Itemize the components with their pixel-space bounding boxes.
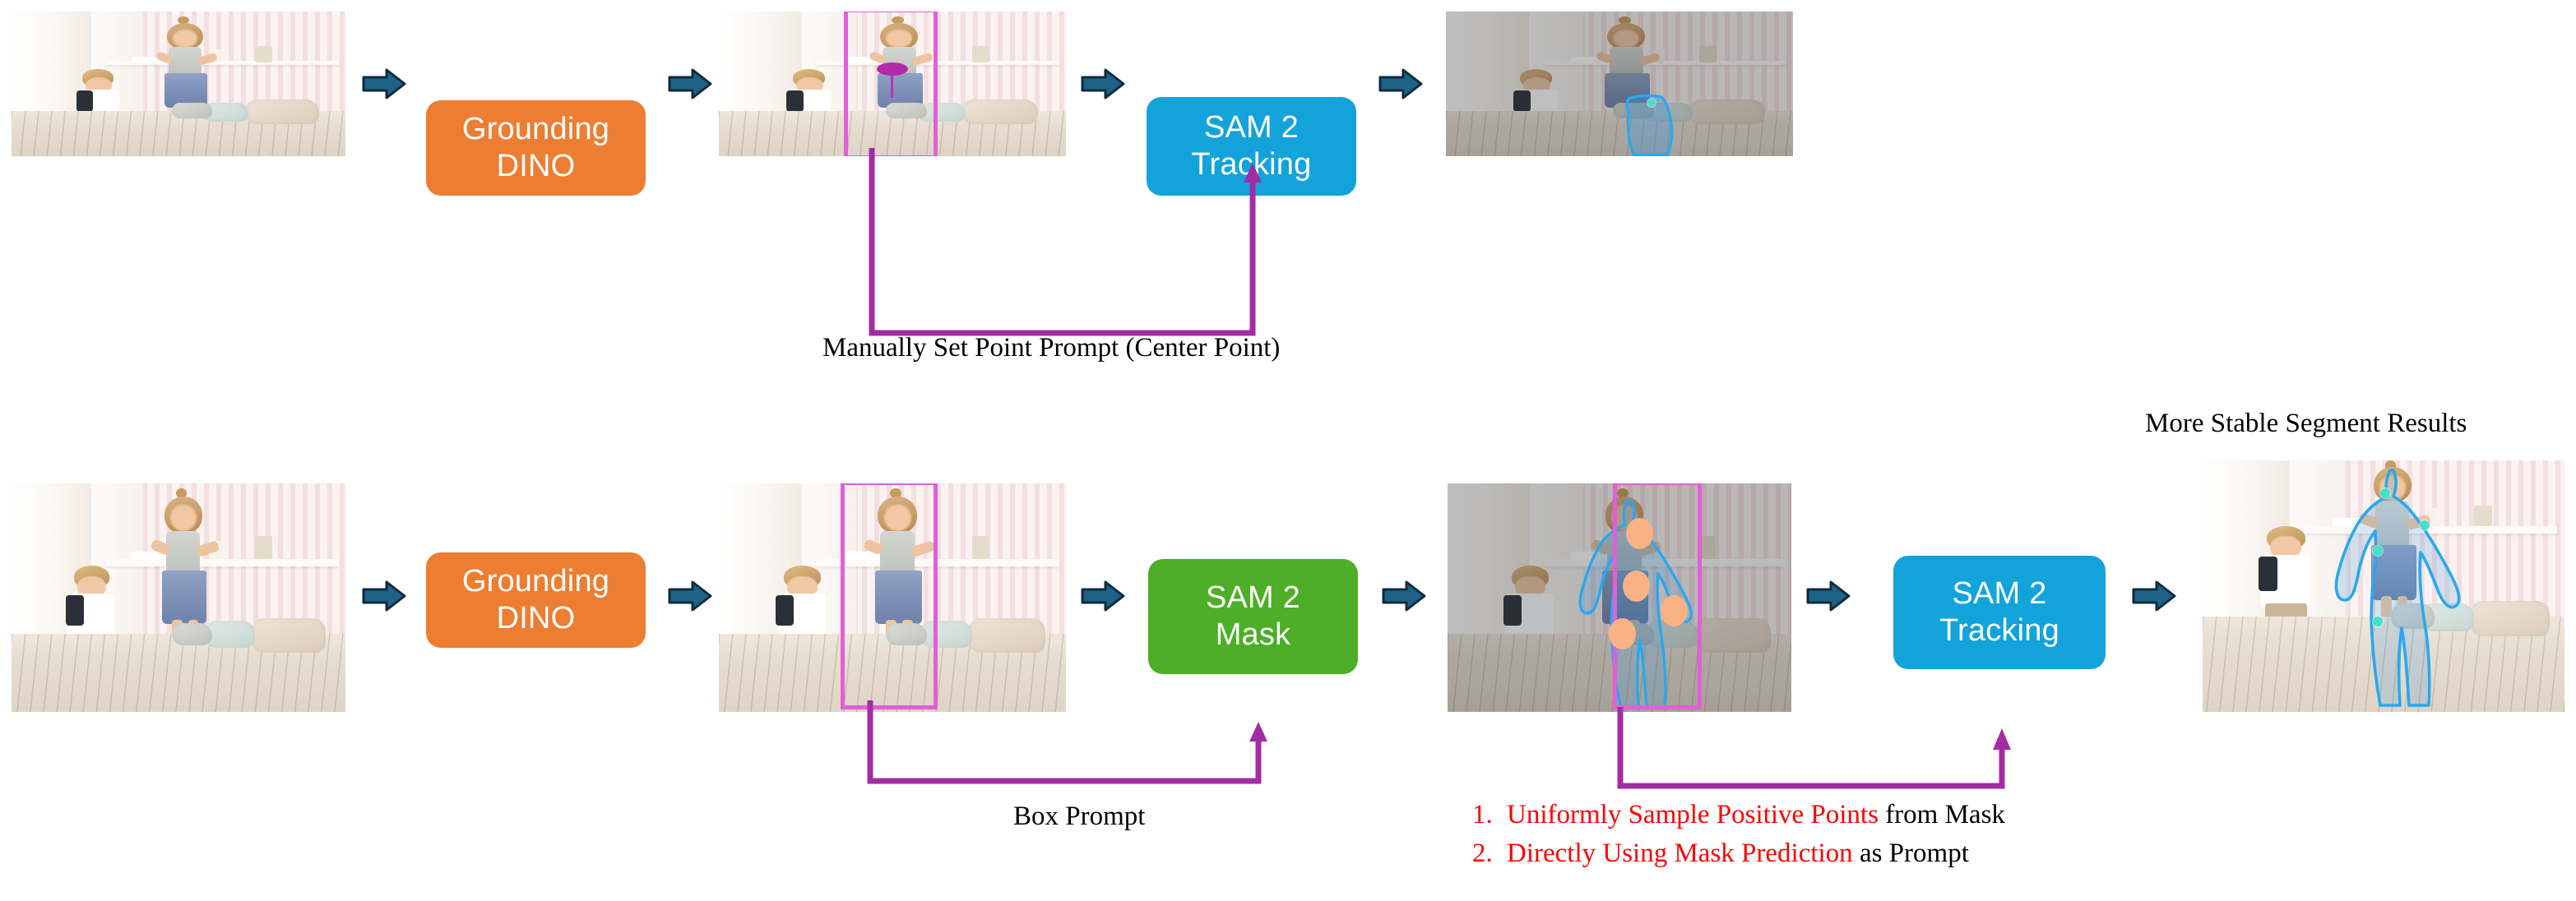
process-label-line: DINO [462, 148, 609, 185]
row2-detected-box-frame [719, 483, 1066, 712]
process-sam2-tracking-row2[interactable]: SAM 2Tracking [1893, 556, 2106, 669]
caption-box-prompt: Box Prompt [1013, 802, 1145, 832]
process-label-line: Tracking [1939, 612, 2059, 649]
process-label-line: DINO [462, 600, 609, 637]
annotation-notes: 1.Uniformly Sample Positive Points from … [1472, 796, 2005, 873]
row2-mask-points-connector [1596, 707, 2023, 806]
positive-point-marker [2373, 546, 2383, 556]
note-black-text: as Prompt [1853, 839, 1969, 868]
block-arrow-right-icon [1081, 580, 1125, 612]
block-arrow-right-icon [1081, 67, 1125, 100]
process-label-line: SAM 2 [1192, 109, 1312, 146]
uniform-sample-point [1623, 571, 1650, 602]
block-arrow-right-icon [1382, 580, 1426, 612]
process-label: SAM 2Tracking [1939, 575, 2059, 649]
positive-point-marker [2380, 488, 2390, 498]
row2-box-prompt-connector [847, 700, 1291, 799]
note-red-text: Directly Using Mask Prediction [1507, 839, 1853, 868]
row1-detected-box-frame [719, 12, 1066, 156]
process-label-line: Mask [1206, 617, 1300, 654]
note-black-text: from Mask [1879, 800, 2005, 829]
note-red-text: Uniformly Sample Positive Points [1507, 800, 1879, 829]
point-prompt-pin-icon [877, 62, 908, 84]
process-label-line: SAM 2 [1939, 575, 2059, 612]
process-sam2-mask[interactable]: SAM 2Mask [1148, 559, 1358, 674]
block-arrow-right-icon [668, 67, 712, 100]
positive-point-marker [2373, 617, 2383, 626]
block-arrow-right-icon [1378, 67, 1423, 100]
annotation-note-2: 2.Directly Using Mask Prediction as Prom… [1472, 834, 2005, 873]
process-label-line: SAM 2 [1206, 580, 1300, 617]
process-label: GroundingDINO [462, 563, 609, 637]
note-number: 1. [1472, 796, 1507, 834]
positive-point-marker [1647, 99, 1656, 107]
process-grounding-dino-row1[interactable]: GroundingDINO [426, 100, 646, 196]
process-grounding-dino-row2[interactable]: GroundingDINO [426, 552, 646, 648]
process-label-line: Grounding [462, 563, 609, 600]
caption-manual-point-prompt: Manually Set Point Prompt (Center Point) [822, 333, 1280, 363]
row2-input-video-frame [12, 483, 345, 712]
row2-mask-with-sampled-points-frame [1448, 483, 1791, 712]
block-arrow-right-icon [2132, 580, 2176, 612]
row1-input-video-frame [12, 12, 345, 156]
process-label: SAM 2Mask [1206, 580, 1300, 654]
row1-tracking-result-frame [1446, 12, 1793, 156]
note-number: 2. [1472, 834, 1507, 873]
process-label: GroundingDINO [462, 111, 609, 185]
annotation-note-1: 1.Uniformly Sample Positive Points from … [1472, 796, 2005, 834]
block-arrow-right-icon [362, 580, 406, 612]
block-arrow-right-icon [1806, 580, 1851, 612]
process-label-line: Grounding [462, 111, 609, 148]
figure-canvas: GroundingDINO [0, 0, 2576, 901]
uniform-sample-point [1626, 518, 1653, 549]
detection-bounding-box [841, 483, 938, 709]
row2-stable-tracking-result-frame [2203, 460, 2564, 712]
caption-more-stable-segment-results: More Stable Segment Results [2145, 409, 2467, 439]
row1-point-prompt-connector [847, 148, 1283, 349]
block-arrow-right-icon [668, 580, 712, 612]
block-arrow-right-icon [362, 67, 406, 100]
